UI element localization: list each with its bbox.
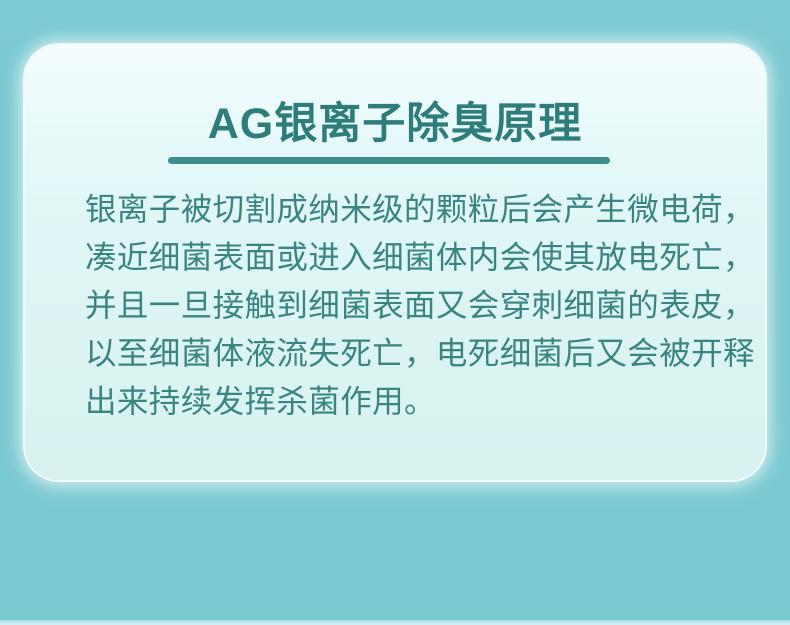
body-line-3: 并且一旦接触到细菌表面又会穿刺细菌的表皮， [85, 281, 721, 329]
info-card-content: AG银离子除臭原理 银离子被切割成纳米级的颗粒后会产生微电荷， 凑近细菌表面或进… [25, 45, 765, 480]
bottom-edge-band [0, 620, 790, 625]
body-line-1: 银离子被切割成纳米级的颗粒后会产生微电荷， [85, 185, 721, 233]
title-block: AG银离子除臭原理 [25, 103, 765, 146]
body-line-4: 以至细菌体液流失死亡，电死细菌后又会被开释 [85, 329, 721, 377]
title-underline-bar [168, 157, 610, 164]
page-title: AG银离子除臭原理 [208, 103, 583, 146]
body-line-2: 凑近细菌表面或进入细菌体内会使其放电死亡， [85, 233, 721, 281]
body-paragraph: 银离子被切割成纳米级的颗粒后会产生微电荷， 凑近细菌表面或进入细菌体内会使其放电… [85, 185, 721, 425]
info-card: AG银离子除臭原理 银离子被切割成纳米级的颗粒后会产生微电荷， 凑近细菌表面或进… [25, 45, 765, 480]
promo-poster: AG银离子除臭原理 银离子被切割成纳米级的颗粒后会产生微电荷， 凑近细菌表面或进… [0, 0, 790, 625]
body-line-5: 出来持续发挥杀菌作用。 [85, 377, 721, 425]
